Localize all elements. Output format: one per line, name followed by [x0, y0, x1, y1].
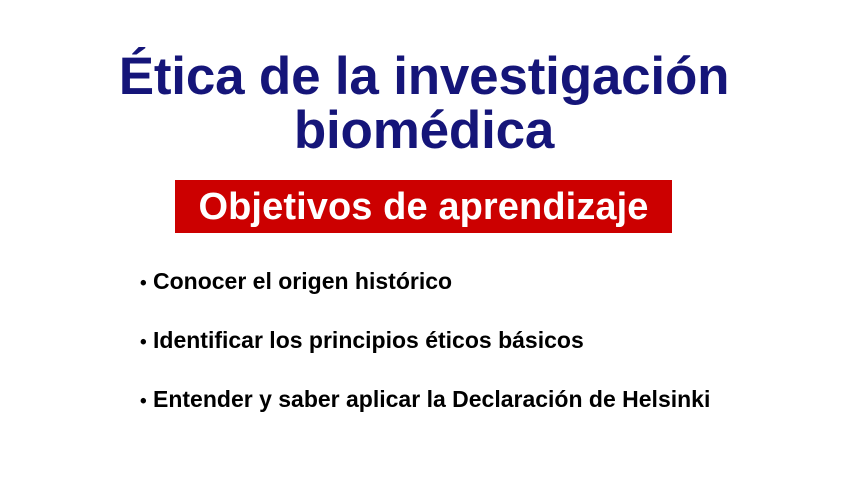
section-banner-label: Objetivos de aprendizaje [198, 187, 648, 227]
section-banner: Objetivos de aprendizaje [175, 180, 672, 233]
bullet-icon: • [140, 389, 153, 415]
list-item: • Identificar los principios éticos bási… [140, 327, 820, 386]
bullet-icon: • [140, 271, 153, 297]
list-item: • Entender y saber aplicar la Declaració… [140, 386, 820, 445]
bullet-icon: • [140, 330, 153, 356]
list-item-label: Entender y saber aplicar la Declaración … [153, 386, 710, 412]
page-title: Ética de la investigación biomédica [0, 50, 848, 158]
presentation-slide: Ética de la investigación biomédica Obje… [0, 0, 848, 477]
objectives-list: • Conocer el origen histórico • Identifi… [140, 268, 820, 445]
list-item: • Conocer el origen histórico [140, 268, 820, 327]
list-item-label: Conocer el origen histórico [153, 268, 452, 294]
list-item-label: Identificar los principios éticos básico… [153, 327, 584, 353]
